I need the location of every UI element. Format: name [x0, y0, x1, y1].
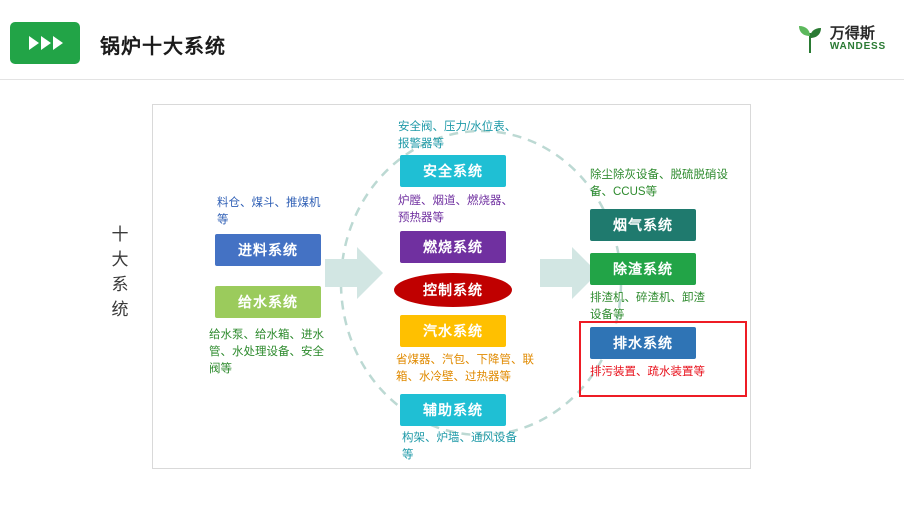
node-flue-gas-system[interactable]: 烟气系统 — [590, 209, 696, 241]
brand-name-cn: 万得斯 — [830, 26, 886, 42]
note-auxiliary-system: 构架、炉墙、通风设备等 — [402, 430, 518, 464]
note-steam-water-system: 省煤器、汽包、下降管、联箱、水冷壁、过热器等 — [396, 352, 534, 386]
section-label-vertical: 十大系统 — [105, 222, 135, 322]
node-feed-system[interactable]: 进料系统 — [215, 234, 321, 266]
node-water-supply-system[interactable]: 给水系统 — [215, 286, 321, 318]
note-drainage-system: 排污装置、疏水装置等 — [590, 364, 706, 381]
leaf-logo-icon — [797, 24, 823, 54]
page-title: 锅炉十大系统 — [100, 30, 226, 59]
node-auxiliary-system[interactable]: 辅助系统 — [400, 394, 506, 426]
note-flue-gas-system: 除尘除灰设备、脱硫脱硝设备、CCUS等 — [590, 167, 730, 201]
node-safety-system[interactable]: 安全系统 — [400, 155, 506, 187]
highlight-box-drainage — [579, 321, 747, 397]
node-slag-removal-system[interactable]: 除渣系统 — [590, 253, 696, 285]
double-chevron-right-icon — [25, 33, 65, 53]
brand-name-en: WANDESS — [830, 42, 886, 53]
note-safety-system: 安全阀、压力/水位表、报警器等 — [398, 119, 518, 153]
node-steam-water-system[interactable]: 汽水系统 — [400, 315, 506, 347]
note-combustion-system: 炉膛、烟道、燃烧器、预热器等 — [398, 193, 514, 227]
chevron-badge — [10, 22, 80, 64]
diagram-frame: 安全系统 进料系统 给水系统 燃烧系统 控制系统 汽水系统 辅助系统 烟气系统 … — [152, 104, 751, 469]
note-feed-system: 料仓、煤斗、推煤机等 — [217, 195, 327, 229]
arrow-left-to-center — [323, 243, 387, 303]
header-divider — [0, 79, 904, 80]
note-water-supply-system: 给水泵、给水箱、进水管、水处理设备、安全阀等 — [209, 327, 329, 378]
note-slag-removal-system: 排渣机、碎渣机、卸渣设备等 — [590, 290, 716, 324]
node-combustion-system[interactable]: 燃烧系统 — [400, 231, 506, 263]
brand-logo: 万得斯 WANDESS — [797, 16, 886, 62]
node-control-system[interactable]: 控制系统 — [394, 273, 512, 307]
page-header: 锅炉十大系统 万得斯 WANDESS — [0, 0, 904, 80]
